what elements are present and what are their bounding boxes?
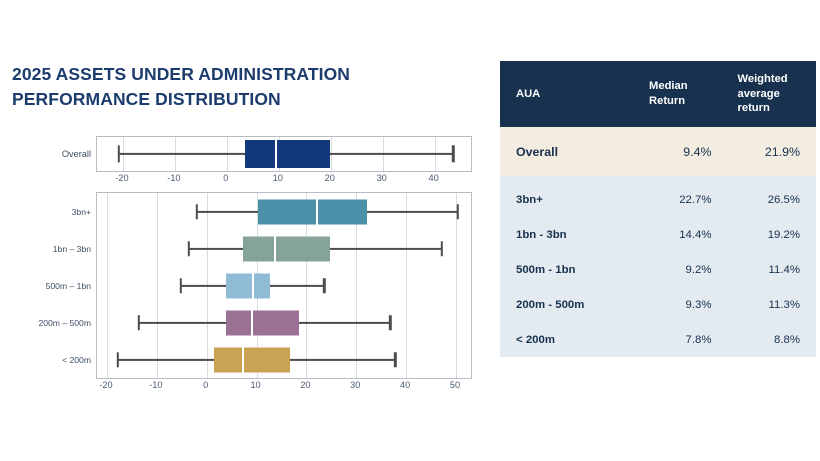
x-axis-tick-label: 10 xyxy=(273,173,283,183)
cell-aua-label: Overall xyxy=(500,127,639,176)
whisker-cap-min xyxy=(117,352,119,368)
table-row[interactable]: 500m - 1bn9.2%11.4% xyxy=(500,252,816,287)
whisker-cap-max xyxy=(394,352,396,368)
x-axis-tick-label: -20 xyxy=(115,173,128,183)
cell-aua-label: < 200m xyxy=(500,322,639,357)
header-aua-text: AUA xyxy=(516,88,540,100)
x-axis-tick-label: 40 xyxy=(400,380,410,390)
table-body: Overall9.4%21.9%3bn+22.7%26.5%1bn - 3bn1… xyxy=(500,127,816,357)
bands-x-axis: -20-1001020304050 xyxy=(96,380,472,396)
x-axis-tick-label: 40 xyxy=(429,173,439,183)
gridline xyxy=(406,193,407,378)
x-axis-tick-label: -20 xyxy=(99,380,112,390)
x-axis-tick-label: -10 xyxy=(167,173,180,183)
x-axis-tick-label: 50 xyxy=(450,380,460,390)
table-header: AUA Median Return Weighted average retur… xyxy=(500,61,816,127)
header-aua: AUA xyxy=(500,61,639,127)
bands-plot-area: 3bn+1bn – 3bn500m – 1bn200m – 500m< 200m xyxy=(96,192,472,379)
x-axis-tick-label: 20 xyxy=(300,380,310,390)
x-axis-tick-label: 10 xyxy=(250,380,260,390)
boxplot-category-label: < 200m xyxy=(62,355,91,365)
boxplot-category-label: 200m – 500m xyxy=(38,318,91,328)
boxplot-category-label: 500m – 1bn xyxy=(46,281,91,291)
header-median-return-line1: Median xyxy=(649,79,727,94)
boxplot-box[interactable] xyxy=(258,199,368,224)
boxplot-category-label: 3bn+ xyxy=(72,207,91,217)
boxplot-median-line xyxy=(274,236,276,261)
x-axis-tick-label: 30 xyxy=(350,380,360,390)
x-axis-tick-label: 0 xyxy=(203,380,208,390)
x-axis-tick-label: 30 xyxy=(377,173,387,183)
cell-aua-label: 200m - 500m xyxy=(500,287,639,322)
header-median-return-line2: Return xyxy=(649,94,727,109)
whisker-cap-max xyxy=(441,241,443,257)
whisker-cap-min xyxy=(118,145,120,162)
gridline xyxy=(157,193,158,378)
cell-median-return: 7.8% xyxy=(639,322,727,357)
whisker-cap-max xyxy=(452,145,454,162)
x-axis-tick-label: 0 xyxy=(223,173,228,183)
header-weighted-line3: return xyxy=(738,101,817,116)
whisker-cap-max xyxy=(389,315,391,331)
overall-x-axis: -20-10010203040 xyxy=(96,173,472,189)
cell-weighted-average-return: 8.8% xyxy=(728,322,817,357)
whisker-cap-max xyxy=(457,204,459,220)
whisker-cap-min xyxy=(188,241,190,257)
cell-weighted-average-return: 11.3% xyxy=(728,287,817,322)
page-title-line-1: 2025 ASSETS UNDER ADMINISTRATION xyxy=(12,62,432,87)
cell-median-return: 9.3% xyxy=(639,287,727,322)
cell-aua-label: 1bn - 3bn xyxy=(500,217,639,252)
cell-weighted-average-return: 21.9% xyxy=(728,127,817,176)
gridline xyxy=(107,193,108,378)
table-row[interactable]: 3bn+22.7%26.5% xyxy=(500,182,816,217)
boxplot-median-line xyxy=(251,310,253,335)
cell-median-return: 14.4% xyxy=(639,217,727,252)
boxplot-median-line xyxy=(316,199,318,224)
table-row[interactable]: 1bn - 3bn14.4%19.2% xyxy=(500,217,816,252)
whisker-cap-min xyxy=(138,315,140,331)
cell-median-return: 22.7% xyxy=(639,182,727,217)
whisker-cap-min xyxy=(180,278,182,294)
boxplot-median-line xyxy=(252,273,254,298)
boxplot-box[interactable] xyxy=(245,140,330,168)
table-row[interactable]: 200m - 500m9.3%11.3% xyxy=(500,287,816,322)
boxplot-box[interactable] xyxy=(226,273,270,298)
overall-plot-area: Overall xyxy=(96,136,472,172)
page-title-line-2: PERFORMANCE DISTRIBUTION xyxy=(12,87,432,112)
whisker-cap-min xyxy=(196,204,198,220)
page-title: 2025 ASSETS UNDER ADMINISTRATION PERFORM… xyxy=(12,62,432,112)
header-weighted-line2: average xyxy=(738,87,817,102)
overall-boxplot-chart: Overall -20-10010203040 xyxy=(0,136,480,192)
cell-aua-label: 3bn+ xyxy=(500,182,639,217)
x-axis-tick-label: -10 xyxy=(149,380,162,390)
aua-performance-table: AUA Median Return Weighted average retur… xyxy=(500,61,816,357)
cell-median-return: 9.2% xyxy=(639,252,727,287)
whisker-cap-max xyxy=(323,278,325,294)
boxplot-box[interactable] xyxy=(243,236,331,261)
boxplot-box[interactable] xyxy=(214,347,291,372)
boxplot-median-line xyxy=(275,140,277,168)
table-header-row: AUA Median Return Weighted average retur… xyxy=(500,61,816,127)
boxplot-box[interactable] xyxy=(226,310,300,335)
table-row[interactable]: Overall9.4%21.9% xyxy=(500,127,816,176)
cell-weighted-average-return: 19.2% xyxy=(728,217,817,252)
cell-aua-label: 500m - 1bn xyxy=(500,252,639,287)
cell-weighted-average-return: 26.5% xyxy=(728,182,817,217)
boxplot-category-label: Overall xyxy=(62,149,91,159)
gridline xyxy=(456,193,457,378)
boxplot-median-line xyxy=(242,347,244,372)
table-row[interactable]: < 200m7.8%8.8% xyxy=(500,322,816,357)
boxplot-category-label: 1bn – 3bn xyxy=(53,244,91,254)
x-axis-tick-label: 20 xyxy=(325,173,335,183)
cell-median-return: 9.4% xyxy=(639,127,727,176)
header-weighted-line1: Weighted xyxy=(738,72,817,87)
header-weighted-average-return: Weighted average return xyxy=(728,61,817,127)
header-median-return: Median Return xyxy=(639,61,727,127)
cell-weighted-average-return: 11.4% xyxy=(728,252,817,287)
aua-band-boxplot-chart: 3bn+1bn – 3bn500m – 1bn200m – 500m< 200m… xyxy=(0,192,480,397)
